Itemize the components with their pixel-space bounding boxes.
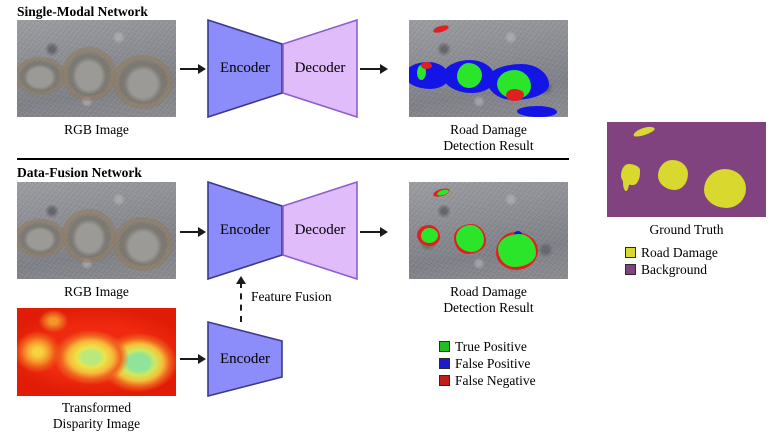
feature-fusion-label: Feature Fusion [251,289,332,305]
road-damage-region-right [704,169,746,208]
legend-item-background: Background [625,261,718,278]
true-positive-region [456,225,484,252]
arrow-decoder-to-result-data-fusion [360,231,388,233]
pothole-right [121,62,165,102]
caption-transformed-disparity-image: Transformed Disparity Image [17,400,176,432]
caption-line-2: Detection Result [409,300,568,316]
encoder-block-disparity: Encoder [207,321,283,397]
pothole-middle [69,54,109,94]
ground-truth-panel [607,122,766,217]
encoder-shape [207,181,283,280]
legend-item-road-damage: Road Damage [625,244,718,261]
encoder-block-rgb: Encoder [207,181,283,280]
legend-label: False Positive [455,355,530,372]
pothole-right [121,224,165,264]
detection-result-data-fusion [409,182,568,279]
decoder-shape [282,181,358,280]
caption-detection-result-single-modal: Road Damage Detection Result [409,122,568,154]
caption-line-2: Detection Result [409,138,568,154]
legend-label: True Positive [455,338,527,355]
feature-fusion-arrow [236,276,248,322]
arrow-rgb-to-encoder-data-fusion [180,231,206,233]
pothole-left [21,62,59,90]
background-swatch-icon [625,264,636,275]
caption-line-1: Road Damage [409,122,568,138]
caption-line-2: Disparity Image [17,416,176,432]
legend-item-true-positive: True Positive [439,338,536,355]
arrow-decoder-to-result-single-modal [360,68,388,70]
caption-rgb-image-data-fusion: RGB Image [17,284,176,300]
true-positive-region [498,234,536,267]
road-damage-region-top [632,125,655,138]
encoder-shape [207,321,283,397]
legend-label: Road Damage [641,244,718,261]
legend-item-false-negative: False Negative [439,372,536,389]
caption-ground-truth: Ground Truth [607,222,766,238]
legend-label: False Negative [455,372,536,389]
pothole-middle [69,216,109,256]
rgb-image-single-modal [17,20,176,117]
detection-result-single-modal [409,20,568,117]
legend-item-false-positive: False Positive [439,355,536,372]
transformed-disparity-image [17,308,176,396]
decoder-block-data-fusion: Decoder [282,181,358,280]
false-positive-region [517,106,557,117]
caption-detection-result-data-fusion: Road Damage Detection Result [409,284,568,316]
decoder-block-single-modal: Decoder [282,19,358,118]
false-positive-swatch-icon [439,358,450,369]
road-damage-region-left-tail [623,174,629,191]
false-negative-region [421,62,432,69]
caption-line-1: Transformed [17,400,176,416]
section-title-data-fusion: Data-Fusion Network [17,165,142,181]
rgb-image-data-fusion [17,182,176,279]
pothole-left [21,224,59,252]
ground-truth-legend: Road Damage Background [625,244,718,278]
encoder-block-single-modal: Encoder [207,19,283,118]
encoder-shape [207,19,283,118]
feature-fusion-shaft [240,282,242,322]
true-positive-swatch-icon [439,341,450,352]
false-negative-swatch-icon [439,375,450,386]
decoder-shape [282,19,358,118]
caption-line-1: Road Damage [409,284,568,300]
section-title-single-modal: Single-Modal Network [17,4,148,20]
road-damage-region-middle [658,160,688,190]
detection-legend: True Positive False Positive False Negat… [439,338,536,389]
arrow-input-to-encoder-single-modal [180,68,206,70]
caption-rgb-image-single-modal: RGB Image [17,122,176,138]
road-damage-swatch-icon [625,247,636,258]
arrow-disparity-to-encoder [180,358,206,360]
section-divider [17,158,569,160]
legend-label: Background [641,261,707,278]
feature-fusion-arrowhead [236,276,246,284]
disparity-heatmap [17,308,176,396]
